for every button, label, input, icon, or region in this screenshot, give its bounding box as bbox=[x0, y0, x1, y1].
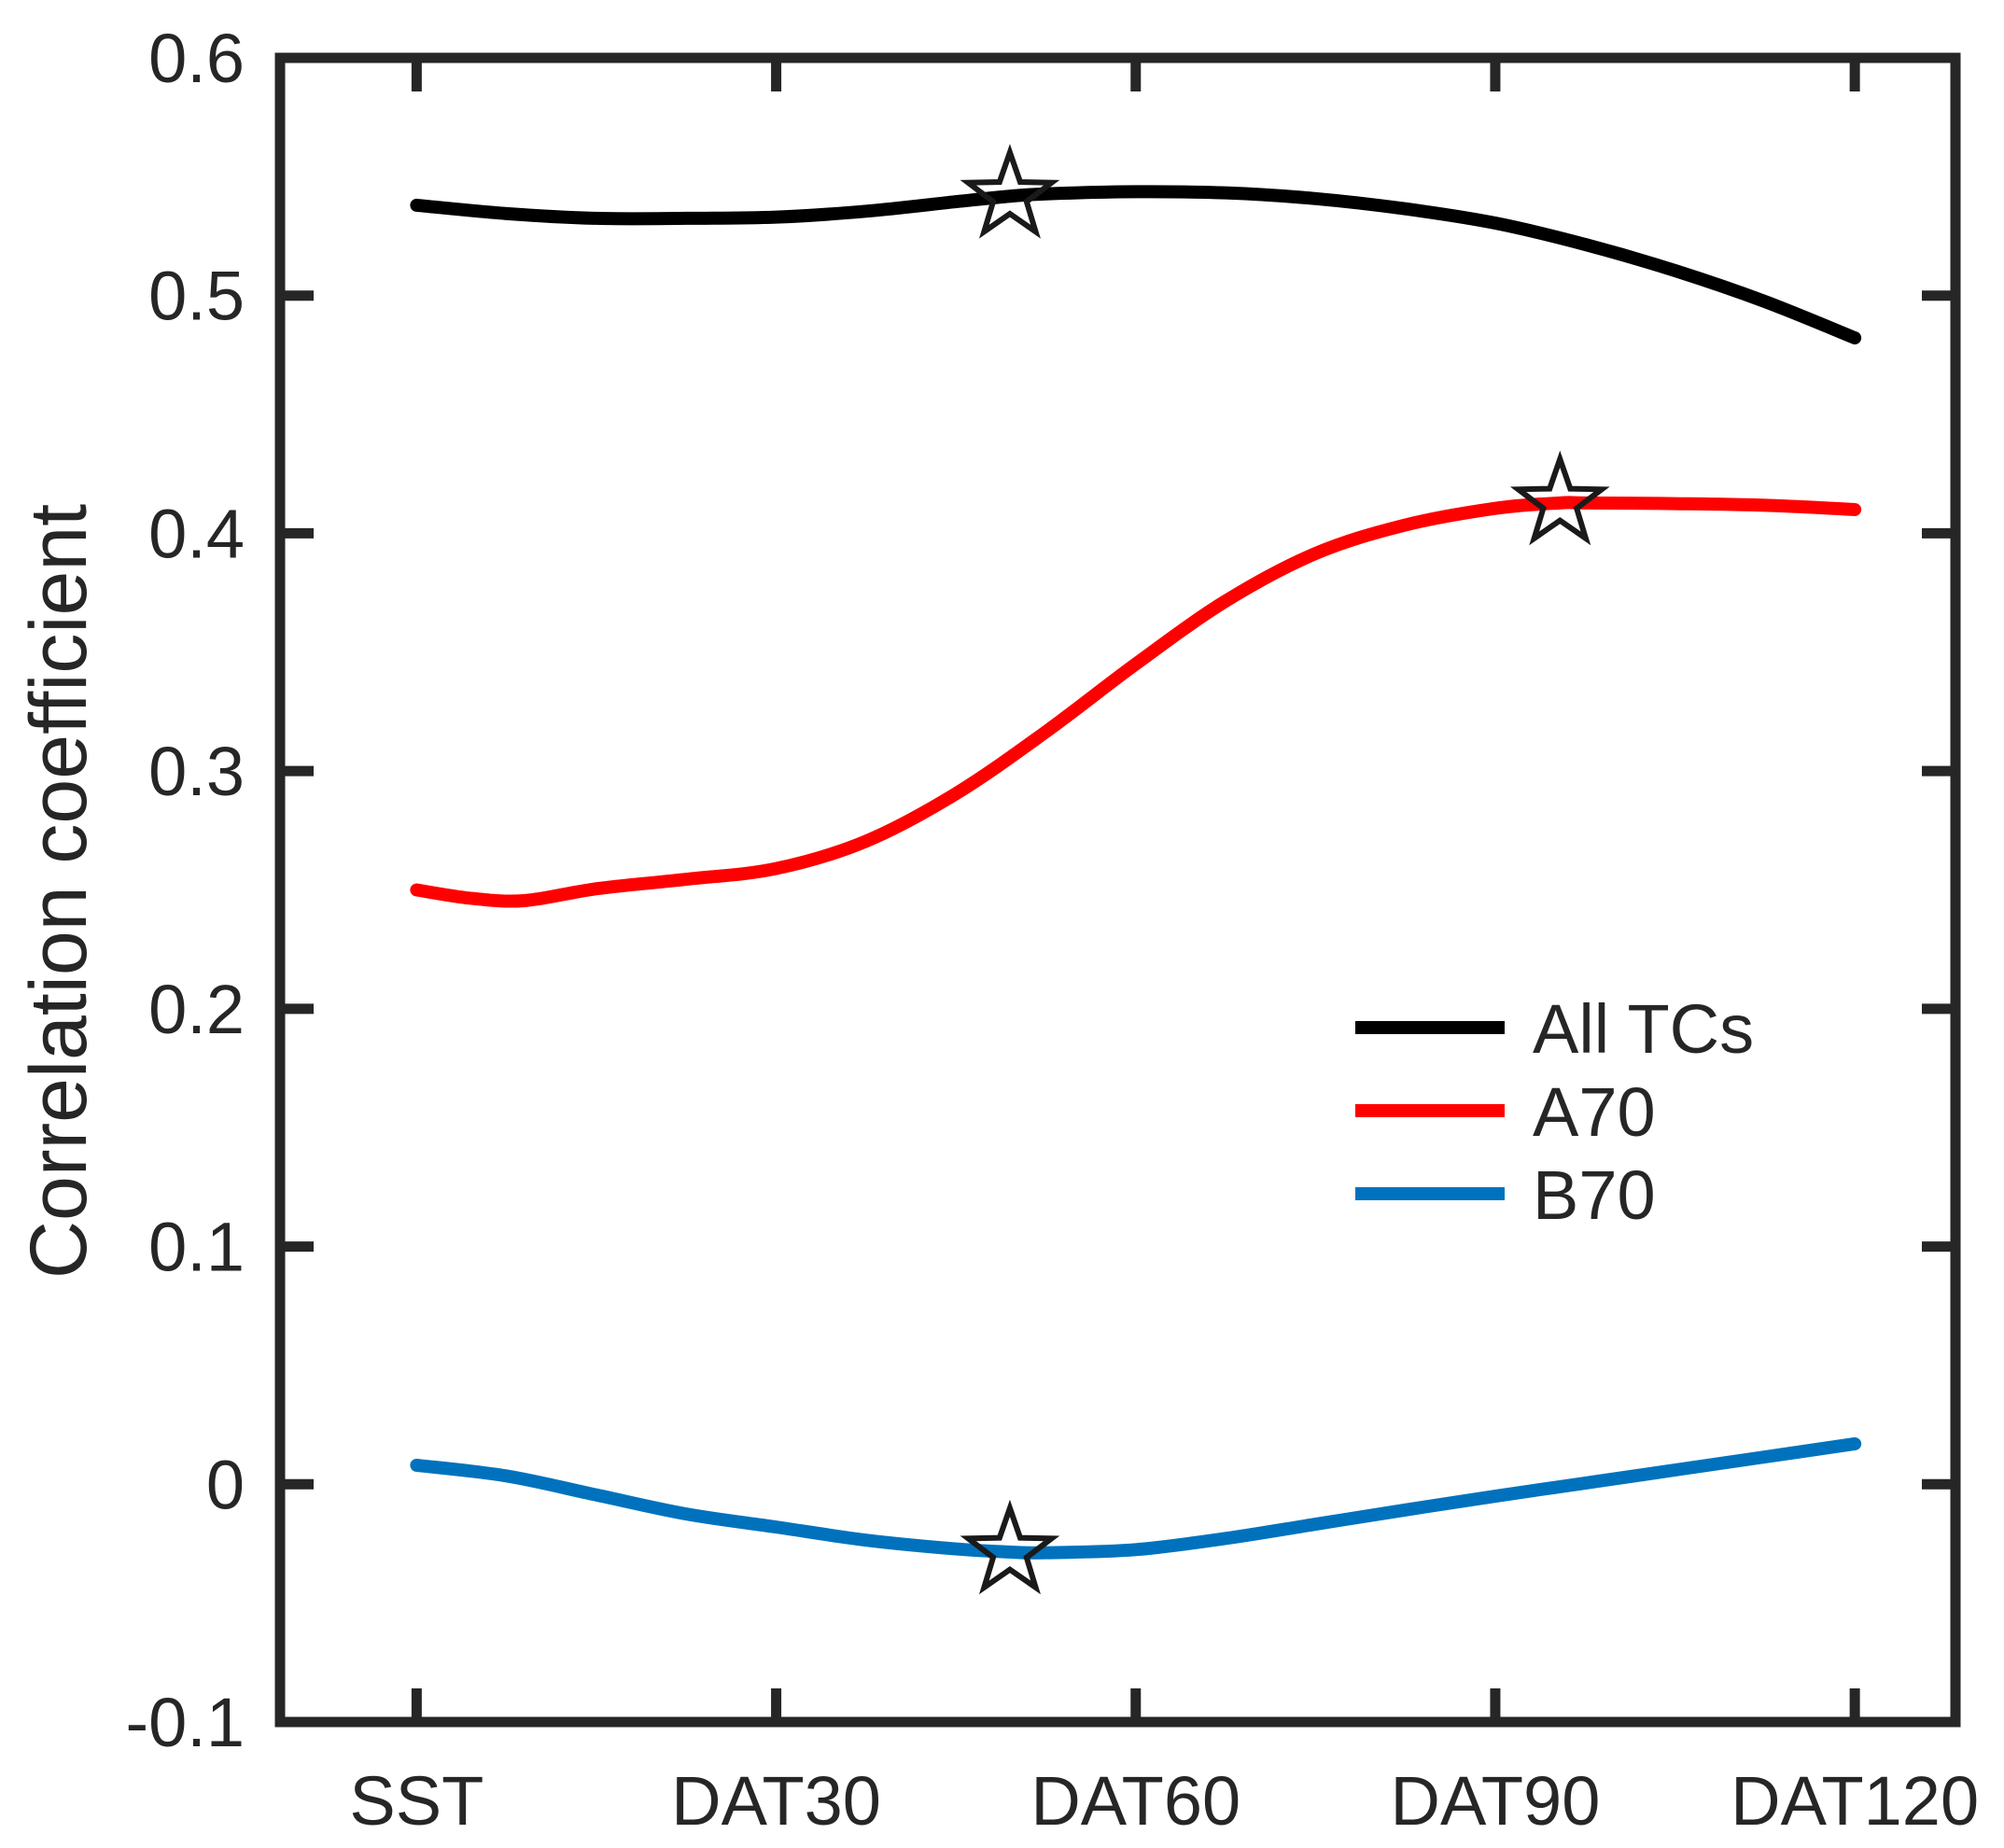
y-axis-label: Correlation coefficient bbox=[14, 504, 104, 1279]
y-tick-label: 0.1 bbox=[148, 1209, 245, 1286]
y-tick-labels: 0.60.50.40.30.20.10-0.1 bbox=[125, 20, 245, 1761]
legend-label-all-tcs: All TCs bbox=[1533, 990, 1754, 1068]
y-tick-label: 0.2 bbox=[148, 971, 245, 1048]
x-tick-label-dat30: DAT30 bbox=[671, 1762, 881, 1840]
legend-label-b70: B70 bbox=[1533, 1156, 1656, 1234]
legend-label-a70: A70 bbox=[1533, 1073, 1656, 1151]
x-tick-labels: SSTDAT30DAT60DAT90DAT120 bbox=[349, 1762, 1979, 1840]
x-tick-label-sst: SST bbox=[349, 1762, 483, 1840]
y-tick-label: 0.5 bbox=[148, 258, 245, 335]
y-tick-label: -0.1 bbox=[125, 1684, 245, 1761]
y-tick-label: 0.6 bbox=[148, 20, 245, 97]
y-tick-label: 0.3 bbox=[148, 733, 245, 810]
plot-area-background bbox=[280, 58, 1955, 1722]
y-tick-label: 0.4 bbox=[148, 495, 245, 572]
figure-container: 0.60.50.40.30.20.10-0.1 SSTDAT30DAT60DAT… bbox=[0, 0, 2004, 1848]
y-tick-label: 0 bbox=[206, 1446, 245, 1523]
x-tick-label-dat60: DAT60 bbox=[1030, 1762, 1240, 1840]
x-tick-label-dat90: DAT90 bbox=[1391, 1762, 1601, 1840]
x-tick-label-dat120: DAT120 bbox=[1731, 1762, 1979, 1840]
correlation-line-chart: 0.60.50.40.30.20.10-0.1 SSTDAT30DAT60DAT… bbox=[0, 0, 2004, 1848]
